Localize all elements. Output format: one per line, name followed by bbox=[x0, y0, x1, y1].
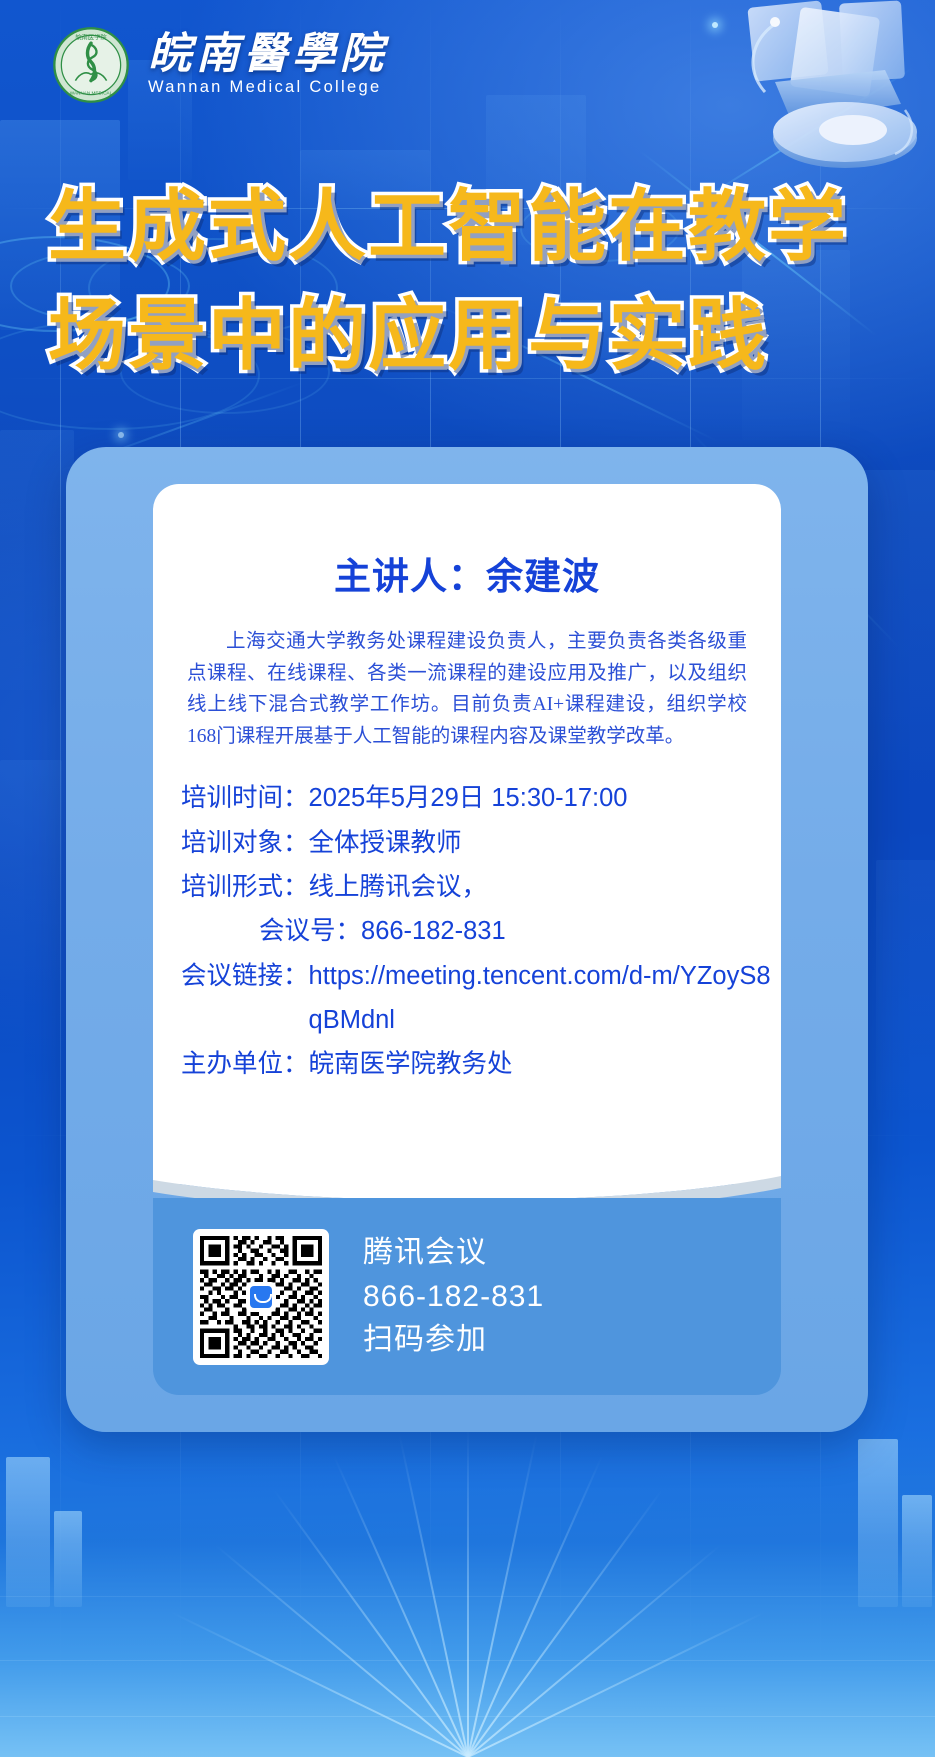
detail-label: 会议号： bbox=[259, 909, 361, 953]
qr-caption: 腾讯会议 866-182-831 扫码参加 bbox=[363, 1233, 544, 1361]
detail-row-time: 培训时间： 2025年5月29日 15:30-17:00 bbox=[181, 776, 781, 820]
event-details-list: 培训时间： 2025年5月29日 15:30-17:00 培训对象： 全体授课教… bbox=[181, 776, 781, 1087]
svg-text:皖南医学院: 皖南医学院 bbox=[75, 33, 107, 41]
detail-label: 培训时间： bbox=[181, 776, 309, 820]
detail-value: 皖南医学院教务处 bbox=[309, 1042, 513, 1086]
qr-caption-line-2: 866-182-831 bbox=[363, 1277, 544, 1317]
svg-text:WANNAN MEDICAL: WANNAN MEDICAL bbox=[70, 91, 113, 96]
qr-caption-line-3: 扫码参加 bbox=[363, 1320, 544, 1360]
wannan-medical-college-emblem-icon: 皖南医学院 WANNAN MEDICAL bbox=[52, 26, 130, 104]
detail-value: 线上腾讯会议， bbox=[309, 865, 488, 909]
content-card: 主讲人：余建波 上海交通大学教务处课程建设负责人，主要负责各类各级重点课程、在线… bbox=[66, 447, 868, 1432]
tencent-meeting-logo-icon bbox=[246, 1282, 276, 1312]
speaker-heading: 主讲人：余建波 bbox=[153, 546, 781, 600]
title-line-2: 场景中的应用与实践 bbox=[48, 285, 808, 388]
detail-row-format: 培训形式： 线上腾讯会议， bbox=[181, 865, 781, 909]
detail-row-audience: 培训对象： 全体授课教师 bbox=[181, 821, 781, 865]
poster-title: 生成式人工智能在教学 场景中的应用与实践 bbox=[48, 176, 808, 388]
brand-name-cn: 皖南醫學院 bbox=[148, 33, 388, 76]
content-card-white-panel: 主讲人：余建波 上海交通大学教务处课程建设负责人，主要负责各类各级重点课程、在线… bbox=[153, 484, 781, 1184]
detail-value: 866-182-831 bbox=[361, 909, 506, 953]
poster-canvas: 皖南医学院 WANNAN MEDICAL 皖南醫學院 Wannan Medica… bbox=[0, 0, 935, 1757]
detail-row-organizer: 主办单位： 皖南医学院教务处 bbox=[181, 1042, 781, 1086]
detail-row-meeting-id: 会议号： 866-182-831 bbox=[181, 909, 781, 953]
tencent-meeting-qr-code-icon[interactable] bbox=[193, 1229, 329, 1365]
detail-row-meeting-link[interactable]: 会议链接： https://meeting.tencent.com/d-m/YZ… bbox=[181, 954, 781, 1043]
detail-label: 培训形式： bbox=[181, 865, 309, 909]
detail-value: 全体授课教师 bbox=[309, 821, 462, 865]
brand-header: 皖南医学院 WANNAN MEDICAL 皖南醫學院 Wannan Medica… bbox=[52, 26, 388, 104]
meeting-link[interactable]: https://meeting.tencent.com/d-m/YZoyS8qB… bbox=[309, 954, 781, 1043]
speaker-bio: 上海交通大学教务处课程建设负责人，主要负责各类各级重点课程、在线课程、各类一流课… bbox=[187, 626, 747, 752]
detail-label: 主办单位： bbox=[181, 1042, 309, 1086]
qr-caption-line-1: 腾讯会议 bbox=[363, 1233, 544, 1273]
detail-label: 培训对象： bbox=[181, 821, 309, 865]
detail-value: 2025年5月29日 15:30-17:00 bbox=[309, 776, 628, 820]
title-line-1: 生成式人工智能在教学 bbox=[48, 176, 808, 279]
qr-footer-band: 腾讯会议 866-182-831 扫码参加 bbox=[153, 1198, 781, 1395]
brand-name-en: Wannan Medical College bbox=[148, 78, 388, 97]
detail-label: 会议链接： bbox=[181, 954, 309, 1043]
